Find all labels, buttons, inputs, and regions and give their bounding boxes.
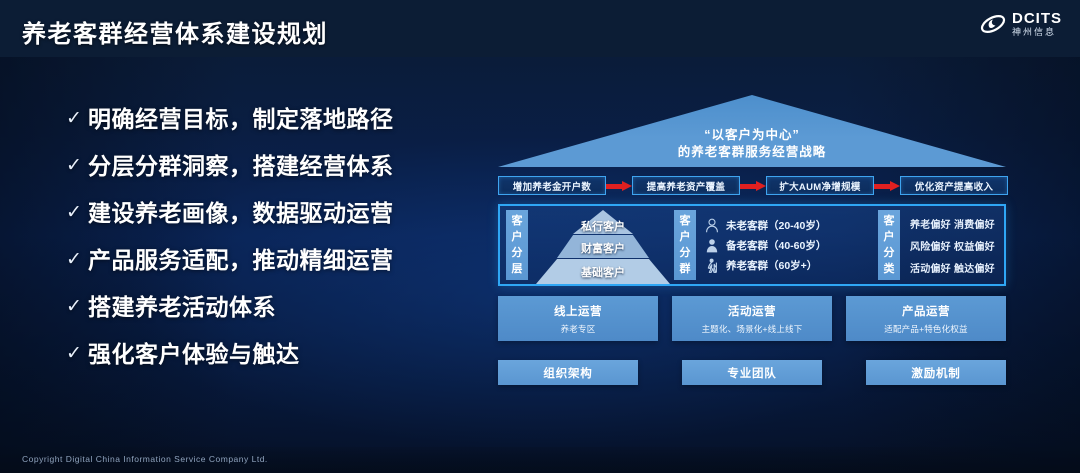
preference-tag: 触达偏好 — [954, 260, 998, 275]
operation-card-title: 活动运营 — [728, 303, 776, 319]
logo-text-cn: 神州信息 — [1012, 28, 1062, 37]
bullet-item-4: ✓ 产品服务适配，推动精细运营 — [66, 245, 466, 275]
grouping-label-c1: 客 — [680, 213, 691, 229]
check-icon: ✓ — [66, 104, 88, 134]
pyramid-tier-middle-label: 财富客户 — [532, 240, 674, 256]
customer-pyramid: 私行客户 财富客户 基础客户 — [532, 210, 674, 284]
group-label: 未老客群（20-40岁） — [726, 218, 826, 233]
slide-header: 养老客群经营体系建设规划 DCITS 神州信息 — [0, 0, 1080, 57]
middle-aged-person-icon — [705, 238, 719, 253]
preference-tag: 消费偏好 — [954, 216, 998, 231]
tiering-label-c2: 户 — [512, 229, 523, 245]
bullet-text: 强化客户体验与触达 — [88, 339, 300, 369]
classification-label-c2: 户 — [884, 229, 895, 245]
kpi-box-3[interactable]: 扩大AUM净增规模 — [766, 176, 874, 195]
check-icon: ✓ — [66, 198, 88, 228]
slide-footer: Copyright Digital China Information Serv… — [0, 447, 1080, 473]
young-person-icon — [705, 218, 719, 233]
operation-card-online[interactable]: 线上运营 养老专区 — [498, 296, 658, 341]
pyramid-tier-top-label: 私行客户 — [532, 218, 674, 234]
bullet-text: 明确经营目标，制定落地路径 — [88, 104, 394, 134]
logo-text-en: DCITS — [1012, 11, 1062, 26]
operation-card-campaign[interactable]: 活动运营 主题化、场景化+线上线下 — [672, 296, 832, 341]
bullet-text: 分层分群洞察，搭建经营体系 — [88, 151, 394, 181]
operation-card-subtitle: 主题化、场景化+线上线下 — [702, 323, 803, 335]
foundation-card-incentive[interactable]: 激励机制 — [866, 360, 1006, 385]
roof-text: “以客户为中心” 的养老客群服务经营战略 — [498, 127, 1006, 161]
check-icon: ✓ — [66, 151, 88, 181]
grouping-label-c4: 群 — [680, 261, 691, 277]
group-row-2: 备老客群（40-60岁） — [705, 238, 878, 253]
foundation-card-org[interactable]: 组织架构 — [498, 360, 638, 385]
bullet-text: 搭建养老活动体系 — [88, 292, 276, 322]
copyright-text: Copyright Digital China Information Serv… — [22, 454, 268, 464]
customer-group-list: 未老客群（20-40岁） 备老客群（40-60岁） — [696, 210, 878, 280]
operation-card-title: 产品运营 — [902, 303, 950, 319]
dcits-swirl-icon — [980, 11, 1006, 37]
arrow-right-icon — [606, 181, 632, 191]
classification-label-c3: 分 — [884, 245, 895, 261]
bullet-list: ✓ 明确经营目标，制定落地路径 ✓ 分层分群洞察，搭建经营体系 ✓ 建设养老画像… — [66, 104, 466, 386]
bullet-item-3: ✓ 建设养老画像，数据驱动运营 — [66, 198, 466, 228]
check-icon: ✓ — [66, 245, 88, 275]
group-row-1: 未老客群（20-40岁） — [705, 218, 878, 233]
elderly-person-icon — [705, 258, 719, 273]
roof-line-1: “以客户为中心” — [498, 127, 1006, 144]
preference-tag: 活动偏好 — [910, 260, 954, 275]
tiering-label-c3: 分 — [512, 245, 523, 261]
slide-canvas: 养老客群经营体系建设规划 DCITS 神州信息 ✓ 明确经营目标，制定落地路径 … — [0, 0, 1080, 473]
grouping-label-c2: 户 — [680, 229, 691, 245]
check-icon: ✓ — [66, 292, 88, 322]
operations-row: 线上运营 养老专区 活动运营 主题化、场景化+线上线下 产品运营 适配产品+特色… — [498, 296, 1006, 341]
bullet-item-2: ✓ 分层分群洞察，搭建经营体系 — [66, 151, 466, 181]
tiering-label-c4: 层 — [512, 261, 523, 277]
customer-segmentation-panel: 客 户 分 层 私行客户 财富客户 基础客户 客 户 分 群 — [498, 204, 1006, 286]
company-logo: DCITS 神州信息 — [980, 11, 1062, 37]
group-label: 养老客群（60岁+） — [726, 258, 817, 273]
preference-tag-grid: 养老偏好 消费偏好 风险偏好 权益偏好 活动偏好 触达偏好 — [900, 210, 998, 280]
bullet-text: 产品服务适配，推动精细运营 — [88, 245, 394, 275]
preference-tag: 风险偏好 — [910, 238, 954, 253]
grouping-label: 客 户 分 群 — [674, 210, 696, 280]
bullet-item-6: ✓ 强化客户体验与触达 — [66, 339, 466, 369]
operation-card-title: 线上运营 — [554, 303, 602, 319]
foundation-card-team[interactable]: 专业团队 — [682, 360, 822, 385]
tiering-label: 客 户 分 层 — [506, 210, 528, 280]
page-title: 养老客群经营体系建设规划 — [22, 14, 328, 49]
pyramid-tier-bottom-label: 基础客户 — [532, 264, 674, 280]
kpi-box-4[interactable]: 优化资产提高收入 — [900, 176, 1008, 195]
classification-label-c4: 类 — [884, 261, 895, 277]
check-icon: ✓ — [66, 339, 88, 369]
bullet-item-5: ✓ 搭建养老活动体系 — [66, 292, 466, 322]
strategy-roof: “以客户为中心” 的养老客群服务经营战略 — [498, 95, 1006, 167]
operation-card-subtitle: 养老专区 — [561, 323, 596, 335]
bullet-text: 建设养老画像，数据驱动运营 — [88, 198, 394, 228]
kpi-box-1[interactable]: 增加养老金开户数 — [498, 176, 606, 195]
roof-line-2: 的养老客群服务经营战略 — [498, 144, 1006, 161]
kpi-chain: 增加养老金开户数 提高养老资产覆盖 扩大AUM净增规模 优化资产提高收入 — [498, 176, 1006, 195]
group-row-3: 养老客群（60岁+） — [705, 258, 878, 273]
grouping-label-c3: 分 — [680, 245, 691, 261]
operation-card-subtitle: 适配产品+特色化权益 — [884, 323, 967, 335]
tiering-label-c1: 客 — [512, 213, 523, 229]
foundation-row: 组织架构 专业团队 激励机制 — [498, 360, 1006, 385]
arrow-right-icon — [740, 181, 766, 191]
kpi-box-2[interactable]: 提高养老资产覆盖 — [632, 176, 740, 195]
classification-label-c1: 客 — [884, 213, 895, 229]
strategy-diagram: “以客户为中心” 的养老客群服务经营战略 增加养老金开户数 提高养老资产覆盖 扩… — [498, 95, 1006, 425]
preference-tag: 权益偏好 — [954, 238, 998, 253]
arrow-right-icon — [874, 181, 900, 191]
group-label: 备老客群（40-60岁） — [726, 238, 826, 253]
classification-label: 客 户 分 类 — [878, 210, 900, 280]
bullet-item-1: ✓ 明确经营目标，制定落地路径 — [66, 104, 466, 134]
operation-card-product[interactable]: 产品运营 适配产品+特色化权益 — [846, 296, 1006, 341]
preference-tag: 养老偏好 — [910, 216, 954, 231]
